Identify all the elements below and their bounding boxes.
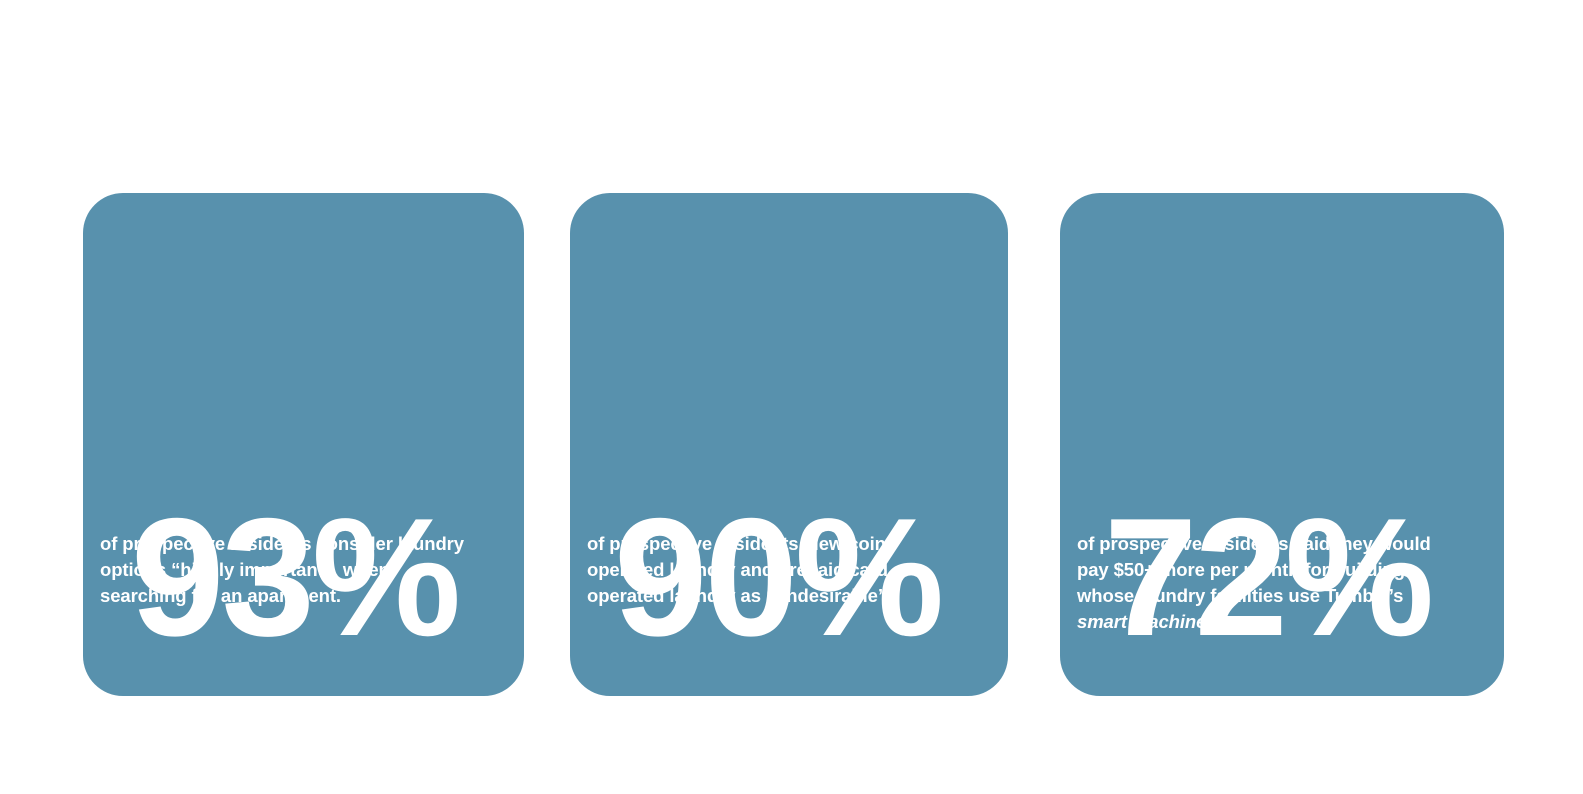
stat-body-line: of prospective residents said they would bbox=[1077, 531, 1494, 557]
stat-card-90: 90% of prospective residents view coin o… bbox=[570, 193, 1008, 696]
stat-body-line: operated laundry as “undesirable”. bbox=[587, 583, 998, 609]
stat-body-line: searching for an apartment. bbox=[100, 583, 514, 609]
stat-body-line: whose laundry facilities use Tumble’s bbox=[1077, 583, 1494, 609]
stat-body-line: options “highly important” when bbox=[100, 557, 514, 583]
stat-body-line: operated laundry and prepaid card bbox=[587, 557, 998, 583]
stat-card-93: 93% of prospective residents consider la… bbox=[83, 193, 524, 696]
infographic-stage: 93% of prospective residents consider la… bbox=[0, 0, 1583, 794]
stat-body-line: of prospective residents view coin bbox=[587, 531, 998, 557]
stat-body-72: of prospective residents said they would… bbox=[1077, 531, 1494, 635]
stat-card-72: 72% of prospective residents said they w… bbox=[1060, 193, 1504, 696]
stat-body-line-emphasis: smart machines. bbox=[1077, 609, 1494, 635]
stat-body-90: of prospective residents view coin opera… bbox=[587, 531, 998, 609]
stat-body-93: of prospective residents consider laundr… bbox=[100, 531, 514, 609]
stat-body-line: pay $50+ more per month for buildings bbox=[1077, 557, 1494, 583]
stat-body-line: of prospective residents consider laundr… bbox=[100, 531, 514, 557]
